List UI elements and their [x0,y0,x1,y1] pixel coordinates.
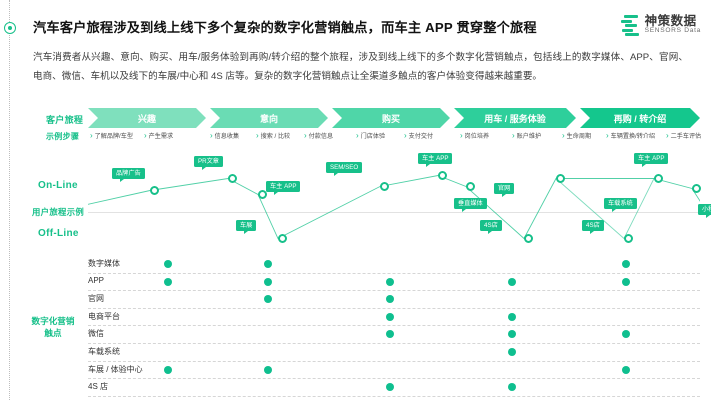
sensors-logo-icon [620,14,640,36]
matrix-dot[interactable] [386,383,394,391]
example-step-1: 产生需求 [144,129,173,144]
online-node-3[interactable] [380,182,389,191]
matrix-row-label: 数字媒体 [88,258,120,269]
matrix-dot[interactable] [264,278,272,286]
touchpoint-matrix: 数字媒体APP官网电商平台微信车载系统车展 / 体验中心4S 店 [88,256,700,398]
online-touchpoint-tag-0[interactable]: 品牌广告 [112,168,145,179]
example-step-5: 门店体验 [356,129,385,144]
left-rail-divider [9,0,10,400]
stage-chevron-3[interactable]: 用车 / 服务体验 [454,108,576,128]
online-node-6[interactable] [556,174,565,183]
example-step-11: 二手车评估 [666,129,701,144]
stage-chevron-4[interactable]: 再购 / 转介绍 [580,108,700,128]
matrix-row-label: 车载系统 [88,346,120,357]
bullet-icon [4,22,16,34]
offline-touchpoint-tag-2[interactable]: 4S店 [582,220,604,231]
offline-node-1[interactable] [524,234,533,243]
online-touchpoint-tag-4[interactable]: 车主 APP [418,153,452,164]
online-node-8[interactable] [692,184,701,193]
page-title: 汽车客户旅程涉及到线上线下多个复杂的数字化营销触点，而车主 APP 贯穿整个旅程 [33,17,578,36]
matrix-title-line: 触点 [22,327,84,339]
matrix-row-label: 车展 / 体验中心 [88,364,143,375]
online-node-4[interactable] [438,171,447,180]
matrix-row: 数字媒体 [88,256,700,274]
matrix-row-label: 电商平台 [88,311,120,322]
offline-node-0[interactable] [278,234,287,243]
online-touchpoint-tag-5[interactable]: 垂直媒体 [454,198,487,209]
matrix-row: 车载系统 [88,344,700,362]
journey-line-chart: 品牌广告PR文章车主 APPSEM/SEO车主 APP垂直媒体官网车主 APP车… [88,150,700,250]
offline-node-2[interactable] [624,234,633,243]
example-step-10: 车辆置换/转介绍 [606,129,655,144]
matrix-row: 4S 店 [88,379,700,397]
offline-touchpoint-tag-0[interactable]: 车展 [236,220,256,231]
online-touchpoint-tag-6[interactable]: 官网 [494,183,514,194]
matrix-row: 车展 / 体验中心 [88,362,700,380]
matrix-dot[interactable] [508,330,516,338]
matrix-dot[interactable] [386,330,394,338]
row-label-offline: Off-Line [38,228,79,239]
matrix-dot[interactable] [622,366,630,374]
matrix-row: 电商平台 [88,309,700,327]
row-label-user-journey: 用户旅程示例 [32,206,84,218]
matrix-dot[interactable] [164,366,172,374]
online-touchpoint-tag-2[interactable]: 车主 APP [266,181,300,192]
online-touchpoint-tag-8[interactable]: 车载系统 [604,198,637,209]
example-steps-row: 了解品牌/车型产生需求信息收集搜索 / 比较付款信息门店体验支付交付岗位培养账户… [88,129,700,143]
matrix-title: 数字化营销触点 [22,315,84,340]
matrix-dot[interactable] [264,260,272,268]
row-divider [88,396,700,397]
matrix-dot[interactable] [622,260,630,268]
online-node-2[interactable] [258,190,267,199]
example-step-2: 信息收集 [210,129,239,144]
online-touchpoint-tag-1[interactable]: PR文章 [194,156,223,167]
matrix-dot[interactable] [386,313,394,321]
matrix-row: 官网 [88,291,700,309]
online-node-7[interactable] [654,174,663,183]
matrix-dot[interactable] [264,366,272,374]
matrix-row-label: 官网 [88,293,104,304]
example-step-7: 岗位培养 [460,129,489,144]
matrix-row-label: 4S 店 [88,381,108,392]
matrix-row: APP [88,274,700,292]
example-step-0: 了解品牌/车型 [90,129,133,144]
matrix-dot[interactable] [386,295,394,303]
online-touchpoint-tag-7[interactable]: 车主 APP [634,153,668,164]
row-label-steps: 示例步骤 [46,131,79,142]
row-label-journey: 客户旅程 [46,113,83,126]
example-step-9: 生命周期 [562,129,591,144]
matrix-dot[interactable] [508,348,516,356]
row-label-online: On-Line [38,180,78,191]
online-node-5[interactable] [466,182,475,191]
matrix-title-line: 数字化营销 [22,315,84,327]
example-step-4: 付款信息 [304,129,333,144]
logo-text-en: SENSORS Data [645,28,701,35]
extra-touchpoint-tag-0[interactable]: 小程序 [698,204,711,215]
offline-touchpoint-tag-1[interactable]: 4S店 [480,220,502,231]
matrix-row-label: 微信 [88,328,104,339]
example-step-3: 搜索 / 比较 [256,129,290,144]
example-step-6: 支付交付 [404,129,433,144]
matrix-dot[interactable] [164,260,172,268]
journey-stage-bar: 兴趣意向购买用车 / 服务体验再购 / 转介绍 [88,108,700,128]
stage-chevron-1[interactable]: 意向 [210,108,328,128]
online-touchpoint-tag-3[interactable]: SEM/SEO [326,162,362,173]
matrix-dot[interactable] [264,295,272,303]
slide-root: 汽车客户旅程涉及到线上线下多个复杂的数字化营销触点，而车主 APP 贯穿整个旅程… [0,0,711,400]
matrix-dot[interactable] [622,330,630,338]
example-step-8: 账户维护 [512,129,541,144]
brand-logo: 神策数据 SENSORS Data [620,14,701,36]
matrix-row-label: APP [88,276,104,285]
matrix-dot[interactable] [508,383,516,391]
matrix-dot[interactable] [164,278,172,286]
online-node-1[interactable] [228,174,237,183]
matrix-dot[interactable] [622,278,630,286]
matrix-row: 微信 [88,326,700,344]
matrix-dot[interactable] [386,278,394,286]
matrix-dot[interactable] [508,313,516,321]
intro-paragraph: 汽车消费者从兴趣、意向、购买、用车/服务体验到再购/转介绍的整个旅程，涉及到线上… [33,48,688,86]
stage-chevron-0[interactable]: 兴趣 [88,108,206,128]
matrix-dot[interactable] [508,278,516,286]
stage-chevron-2[interactable]: 购买 [332,108,450,128]
online-node-0[interactable] [150,186,159,195]
